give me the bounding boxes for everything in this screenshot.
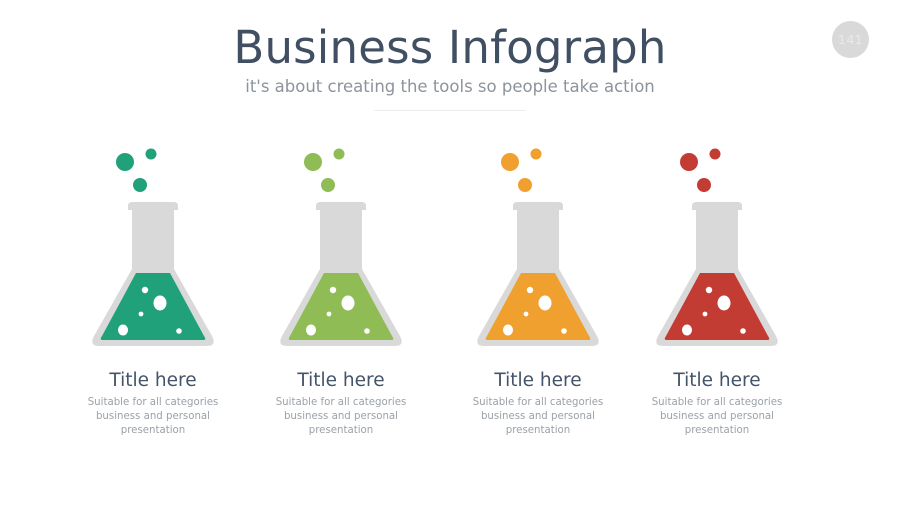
liquid-bubble	[503, 325, 513, 336]
erlenmeyer-flask-icon	[266, 140, 416, 358]
liquid-bubble	[327, 312, 332, 317]
vapor-bubble-medium	[518, 178, 532, 192]
liquid-bubble	[154, 296, 167, 311]
liquid-bubble	[539, 296, 552, 311]
item-description: Suitable for all categories business and…	[58, 396, 248, 437]
vapor-bubble-large	[501, 153, 519, 171]
caption-block: Title here Suitable for all categories b…	[246, 370, 436, 437]
liquid-bubble	[706, 287, 712, 293]
flask-graphic-2	[246, 140, 436, 358]
liquid-bubble	[703, 312, 708, 317]
item-description: Suitable for all categories business and…	[443, 396, 633, 437]
page-title: Business Infograph	[0, 22, 900, 74]
vapor-bubble-medium	[321, 178, 335, 192]
caption-block: Title here Suitable for all categories b…	[58, 370, 248, 437]
erlenmeyer-flask-icon	[642, 140, 792, 358]
liquid-bubble	[740, 328, 746, 334]
liquid-bubble	[561, 328, 567, 334]
slide-number-badge: 141	[832, 21, 869, 58]
liquid-bubble	[527, 287, 533, 293]
vapor-bubble-large	[680, 153, 698, 171]
infographic-item-1[interactable]: Title here Suitable for all categories b…	[58, 140, 248, 437]
liquid-bubble	[306, 325, 316, 336]
infographic-item-2[interactable]: Title here Suitable for all categories b…	[246, 140, 436, 437]
flask-graphic-3	[443, 140, 633, 358]
vapor-bubble-medium	[697, 178, 711, 192]
vapor-bubble-large	[304, 153, 322, 171]
vapor-bubble-large	[116, 153, 134, 171]
vapor-bubble-medium	[133, 178, 147, 192]
caption-block: Title here Suitable for all categories b…	[443, 370, 633, 437]
liquid-bubble	[718, 296, 731, 311]
item-title: Title here	[58, 370, 248, 392]
vapor-bubble-small	[531, 149, 542, 160]
liquid-bubble	[118, 325, 128, 336]
item-description: Suitable for all categories business and…	[622, 396, 812, 437]
liquid-bubble	[342, 296, 355, 311]
item-title: Title here	[443, 370, 633, 392]
erlenmeyer-flask-icon	[463, 140, 613, 358]
item-description: Suitable for all categories business and…	[246, 396, 436, 437]
flask-graphic-1	[58, 140, 248, 358]
vapor-bubble-small	[334, 149, 345, 160]
liquid-bubble	[176, 328, 182, 334]
liquid-bubble	[142, 287, 148, 293]
flask-graphic-4	[622, 140, 812, 358]
erlenmeyer-flask-icon	[78, 140, 228, 358]
vapor-bubble-small	[146, 149, 157, 160]
liquid-bubble	[682, 325, 692, 336]
header-divider	[374, 110, 526, 111]
flask-columns: Title here Suitable for all categories b…	[0, 140, 900, 460]
caption-block: Title here Suitable for all categories b…	[622, 370, 812, 437]
page-subtitle: it's about creating the tools so people …	[0, 76, 900, 98]
liquid-bubble	[364, 328, 370, 334]
slide-canvas: Business Infograph it's about creating t…	[0, 0, 900, 506]
liquid-bubble	[524, 312, 529, 317]
vapor-bubble-small	[710, 149, 721, 160]
slide-header: Business Infograph it's about creating t…	[0, 22, 900, 111]
item-title: Title here	[246, 370, 436, 392]
liquid-bubble	[139, 312, 144, 317]
item-title: Title here	[622, 370, 812, 392]
infographic-item-3[interactable]: Title here Suitable for all categories b…	[443, 140, 633, 437]
slide-number-label: 141	[838, 32, 863, 47]
liquid-bubble	[330, 287, 336, 293]
infographic-item-4[interactable]: Title here Suitable for all categories b…	[622, 140, 812, 437]
